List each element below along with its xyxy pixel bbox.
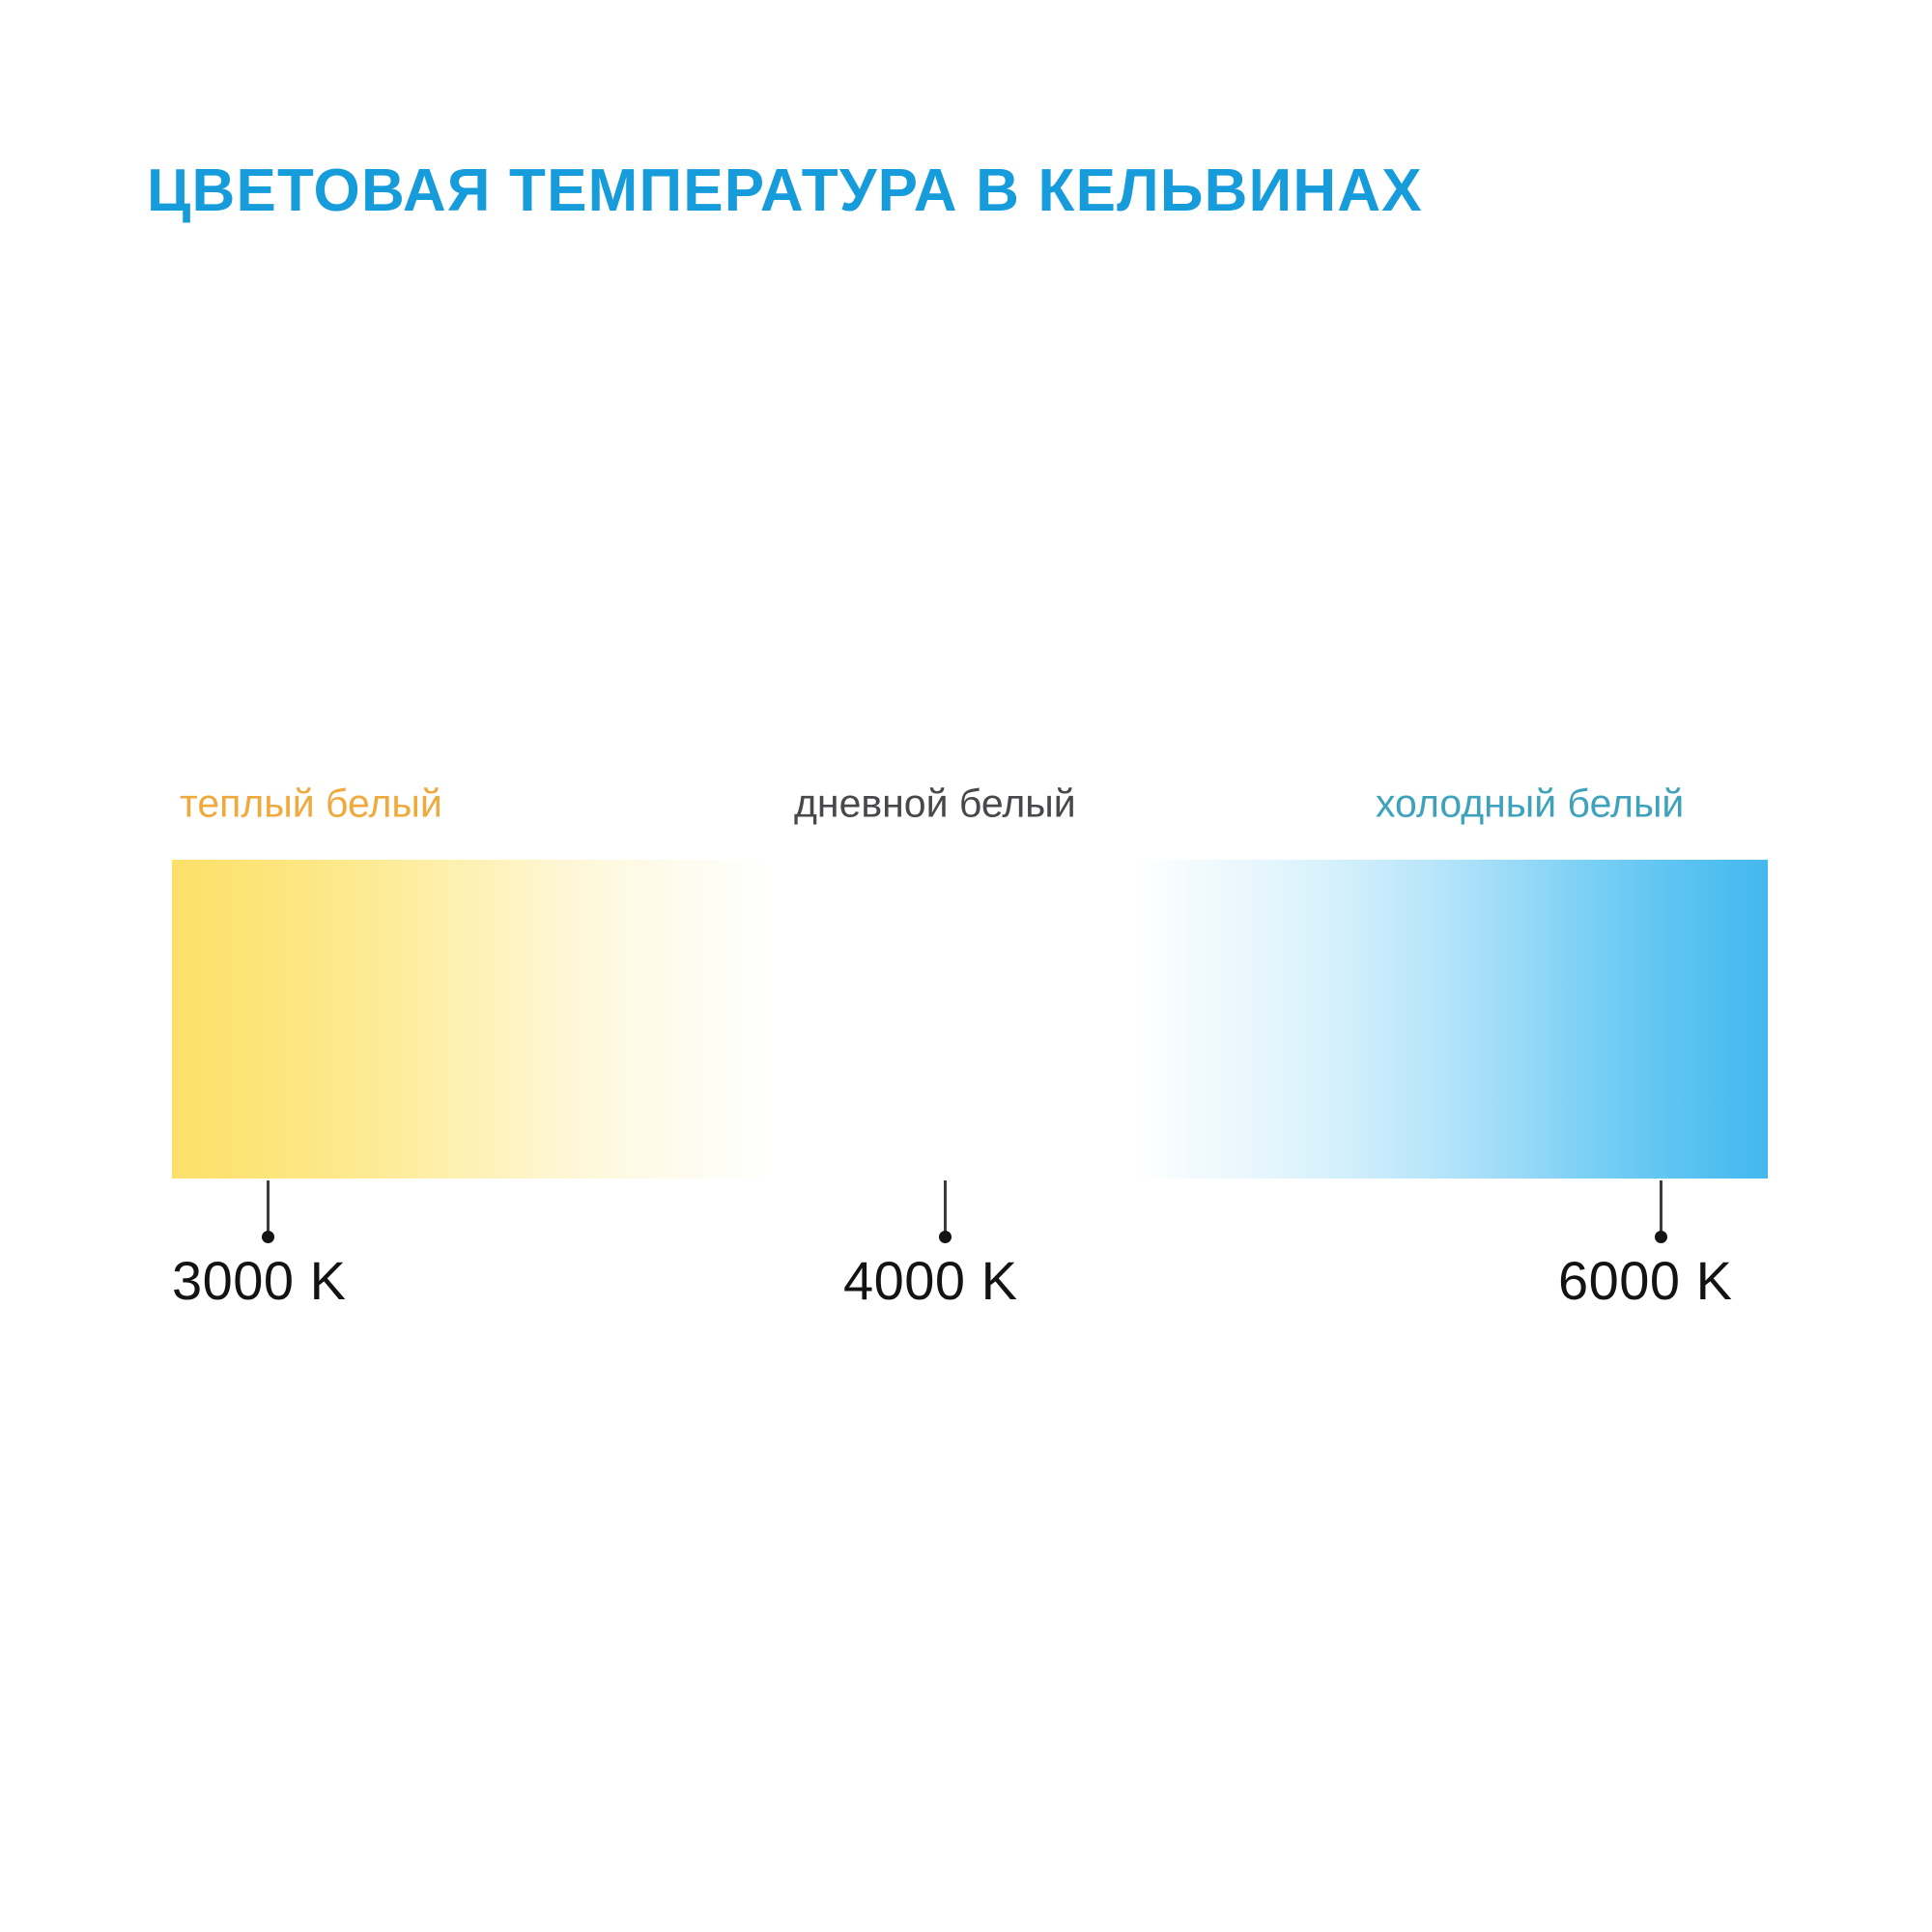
kelvin-value-4000: 4000 K [843,1254,1018,1308]
gradient-bar-cool-white [1138,860,1768,1179]
pointer-dot-icon [939,1231,952,1243]
marker-pointer-6000 [1660,1180,1662,1238]
pointer-stem-icon [267,1180,270,1238]
kelvin-value-3000: 3000 K [172,1254,347,1308]
band-label-cool-white: холодный белый [1376,784,1684,824]
band-label-warm-white: теплый белый [180,784,442,824]
pointer-stem-icon [1660,1180,1662,1238]
pointer-dot-icon [1655,1231,1667,1243]
pointer-dot-icon [262,1231,274,1243]
marker-pointer-3000 [267,1180,270,1238]
gradient-bar-warm-white [172,860,771,1179]
marker-pointer-4000 [944,1180,947,1238]
infographic-canvas: ЦВЕТОВАЯ ТЕМПЕРАТУРА В КЕЛЬВИНАХ теплый … [0,0,1932,1932]
page-title: ЦВЕТОВАЯ ТЕМПЕРАТУРА В КЕЛЬВИНАХ [147,161,1423,221]
band-label-daylight-white: дневной белый [794,784,1076,824]
pointer-stem-icon [944,1180,947,1238]
kelvin-value-6000: 6000 K [1558,1254,1733,1308]
